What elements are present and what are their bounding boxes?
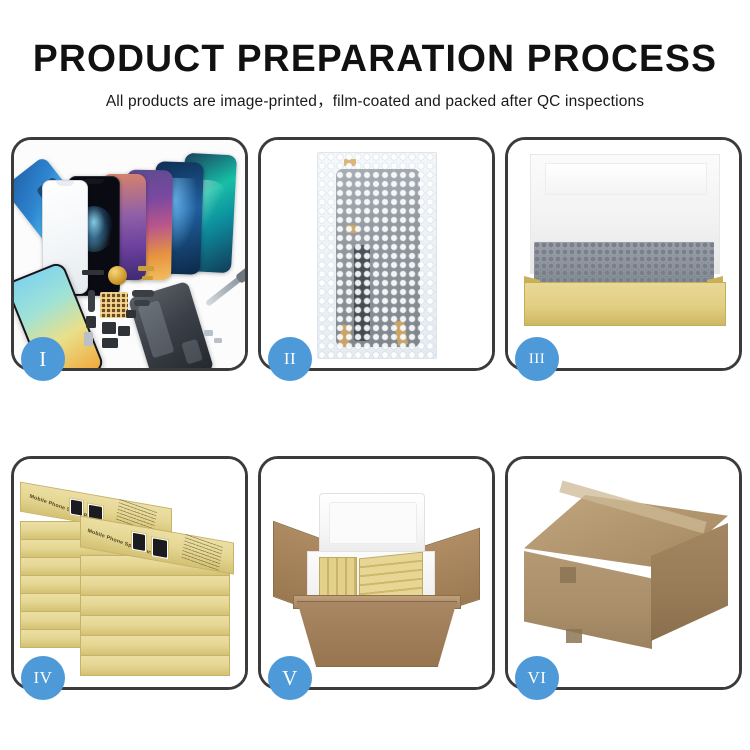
copper-coil-icon bbox=[108, 266, 127, 285]
sealed-shipping-carton bbox=[508, 459, 739, 687]
box-thumbnail-icon bbox=[151, 536, 169, 560]
step-badge-4: IV bbox=[21, 656, 65, 700]
screw-icon bbox=[214, 338, 222, 343]
bubble-texture bbox=[318, 153, 436, 358]
button-part-icon bbox=[86, 316, 96, 328]
page-subtitle: All products are image-printed，film-coat… bbox=[0, 80, 750, 111]
step-5-image bbox=[261, 459, 492, 687]
process-step-panel-2[interactable]: II bbox=[258, 137, 495, 371]
process-step-panel-3[interactable]: III bbox=[505, 137, 742, 371]
step-badge-6: VI bbox=[515, 656, 559, 700]
step-badge-1: I bbox=[21, 337, 65, 381]
box-spec-lines bbox=[181, 534, 223, 572]
stacked-box bbox=[80, 635, 230, 656]
step-1-image bbox=[14, 140, 245, 368]
gold-connector-icon bbox=[142, 276, 153, 280]
stacked-box bbox=[80, 655, 230, 676]
box-thumbnail-icon bbox=[131, 530, 147, 553]
flex-cable-icon bbox=[134, 300, 150, 306]
process-step-panel-5[interactable]: V bbox=[258, 456, 495, 690]
small-part-icon bbox=[82, 270, 104, 275]
flex-cable-icon bbox=[88, 290, 95, 312]
process-step-panel-6[interactable]: VI bbox=[505, 456, 742, 690]
page-title: PRODUCT PREPARATION PROCESS bbox=[8, 0, 743, 80]
carton-tab-icon bbox=[566, 629, 582, 643]
kraft-box-tray-icon bbox=[524, 282, 726, 326]
process-step-grid: I II bbox=[11, 137, 741, 690]
carton-body-icon bbox=[297, 601, 457, 667]
bubble-wrap-bag-icon bbox=[317, 152, 437, 359]
foam-lid-panel-icon bbox=[545, 163, 707, 195]
screwdriver-icon bbox=[205, 275, 243, 307]
phone-parts-collage bbox=[14, 140, 245, 368]
page-header: PRODUCT PREPARATION PROCESS All products… bbox=[0, 0, 750, 111]
step-6-image bbox=[508, 459, 739, 687]
stacked-box bbox=[80, 615, 230, 636]
open-box-with-foam bbox=[508, 140, 739, 368]
protector-notch-icon bbox=[56, 181, 74, 186]
step-4-image: Mobile Phone Spare Parts Mobile Phone Sp… bbox=[14, 459, 245, 687]
step-2-image bbox=[261, 140, 492, 368]
carton-front-face-icon bbox=[524, 551, 652, 649]
sim-tray-icon bbox=[84, 332, 93, 346]
step-3-image bbox=[508, 140, 739, 368]
step-badge-2: II bbox=[268, 337, 312, 381]
step-badge-5: V bbox=[268, 656, 312, 700]
step-badge-3: III bbox=[515, 337, 559, 381]
small-part-icon bbox=[126, 310, 136, 318]
process-step-panel-1[interactable]: I bbox=[11, 137, 248, 371]
camera-module-icon bbox=[102, 322, 116, 334]
stacked-box bbox=[80, 595, 230, 616]
stacked-box bbox=[80, 575, 230, 596]
carton-with-foam-cooler bbox=[261, 459, 492, 687]
foam-cooler-lid-icon bbox=[319, 493, 425, 559]
retail-box-stack: Mobile Phone Spare Parts Mobile Phone Sp… bbox=[14, 459, 245, 687]
flex-cable-icon bbox=[132, 290, 154, 297]
chip-grid-icon bbox=[100, 292, 128, 318]
gold-connector-icon bbox=[138, 266, 154, 271]
bubble-wrapped-screen bbox=[261, 140, 492, 368]
process-step-panel-4[interactable]: Mobile Phone Spare Parts Mobile Phone Sp… bbox=[11, 456, 248, 690]
speaker-part-icon bbox=[118, 326, 130, 336]
carton-tab-icon bbox=[560, 567, 576, 583]
screw-icon bbox=[204, 330, 213, 336]
taptic-part-icon bbox=[102, 338, 118, 348]
